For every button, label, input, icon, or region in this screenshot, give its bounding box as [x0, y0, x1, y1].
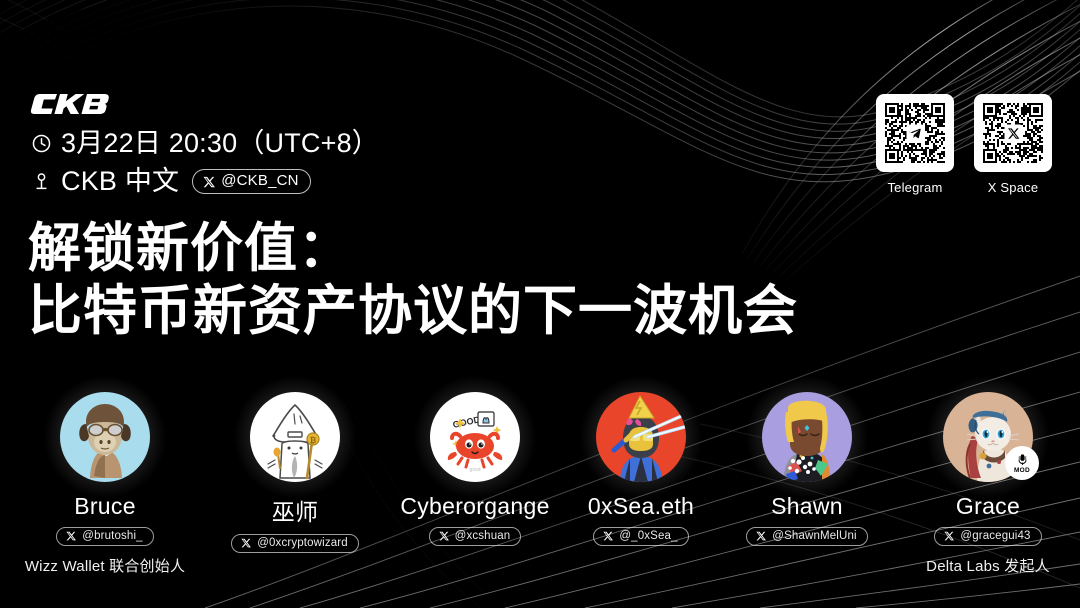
title-line-1: 解锁新价值： — [28, 218, 798, 280]
speaker-x-handle: @gracegui43 — [960, 530, 1030, 542]
speaker-x-handle-pill[interactable]: @_0xSea_ — [593, 527, 688, 546]
host-x-handle: @CKB_CN — [221, 172, 298, 190]
avatar-holder — [596, 392, 686, 482]
qr-x-space-label: X Space — [974, 180, 1052, 195]
speaker-x-handle: @0xcryptowizard — [257, 537, 348, 549]
wizard-doodle-avatar: ₿ — [250, 392, 340, 482]
laser-ninja-avatar — [596, 392, 686, 482]
svg-text:₿: ₿ — [310, 436, 317, 445]
person-pin-icon — [30, 171, 52, 193]
x-logo-icon — [439, 531, 449, 541]
clock-icon — [30, 133, 52, 155]
moderator-badge: MOD — [1005, 446, 1039, 480]
speaker-x-handle-pill[interactable]: @0xcryptowizard — [231, 534, 359, 553]
speaker-card-0xSea.eth: 0xSea.eth @_0xSea_ — [556, 392, 726, 546]
speaker-list: Bruce @brutoshi_ Wizz Wallet 联合创始人 ₿ — [0, 392, 1080, 592]
qr-code-group: Telegram X Space — [876, 94, 1052, 195]
x-logo-icon — [944, 531, 954, 541]
crab-sticker-avatar: GOOD good — [430, 392, 520, 482]
event-datetime-row: 3月22日 20:30（UTC+8） — [30, 128, 379, 160]
event-host-name: CKB 中文 — [61, 166, 179, 198]
speaker-role: Delta Labs 发起人 — [903, 555, 1073, 576]
speaker-x-handle: @xcshuan — [455, 530, 511, 542]
x-logo-icon — [603, 531, 613, 541]
host-x-handle-pill[interactable]: @CKB_CN — [192, 169, 310, 194]
event-datetime: 3月22日 20:30（UTC+8） — [61, 128, 379, 160]
speaker-x-handle-pill[interactable]: @gracegui43 — [934, 527, 1041, 546]
x-logo-icon — [66, 531, 76, 541]
qr-x-space[interactable]: X Space — [974, 94, 1052, 195]
speaker-card-Cyberorgange: GOOD good Cyberorgange — [390, 392, 560, 546]
avatar-holder — [762, 392, 852, 482]
x-logo-icon — [241, 538, 251, 548]
speaker-x-handle-pill[interactable]: @xcshuan — [429, 527, 522, 546]
microphone-icon — [1017, 454, 1028, 467]
x-logo-icon — [203, 175, 215, 187]
avatar-holder: ₿ — [250, 392, 340, 482]
event-header: 3月22日 20:30（UTC+8） CKB 中文 @CKB_CN — [30, 92, 379, 198]
title-line-2: 比特币新资产协议的下一波机会 — [28, 280, 798, 343]
qr-telegram-card[interactable] — [876, 94, 954, 172]
speaker-role: Wizz Wallet 联合创始人 — [20, 555, 190, 576]
speaker-card-巫师: ₿ 巫师 @0xcryptowizard — [210, 392, 380, 553]
avatar-holder: GOOD good — [430, 392, 520, 482]
speaker-x-handle: @brutoshi_ — [82, 530, 142, 542]
speaker-x-handle-pill[interactable]: @brutoshi_ — [56, 527, 153, 546]
speaker-x-handle-pill[interactable]: @ShawnMelUni — [746, 527, 867, 546]
avatar-holder — [60, 392, 150, 482]
x-logo-icon — [756, 531, 766, 541]
page-title: 解锁新价值： 比特币新资产协议的下一波机会 — [28, 218, 798, 343]
avatar-holder: MOD — [943, 392, 1033, 482]
ape-pilot-avatar — [60, 392, 150, 482]
speaker-x-handle: @ShawnMelUni — [772, 530, 856, 542]
blonde-character-avatar — [762, 392, 852, 482]
ckb-logo — [30, 92, 118, 116]
qr-telegram-label: Telegram — [876, 180, 954, 195]
speaker-card-Grace: MOD Grace @gracegui43 Delta Labs 发起人 — [903, 392, 1073, 576]
svg-text:good: good — [469, 467, 480, 473]
moderator-label: MOD — [1014, 468, 1030, 475]
speaker-card-Shawn: Shawn @ShawnMelUni — [722, 392, 892, 546]
speaker-x-handle: @_0xSea_ — [619, 530, 677, 542]
qr-x-space-card[interactable] — [974, 94, 1052, 172]
qr-telegram[interactable]: Telegram — [876, 94, 954, 195]
speaker-card-Bruce: Bruce @brutoshi_ Wizz Wallet 联合创始人 — [20, 392, 190, 576]
event-host-row: CKB 中文 @CKB_CN — [30, 166, 379, 198]
telegram-logo-icon — [907, 125, 924, 142]
x-logo-icon — [1005, 125, 1022, 142]
